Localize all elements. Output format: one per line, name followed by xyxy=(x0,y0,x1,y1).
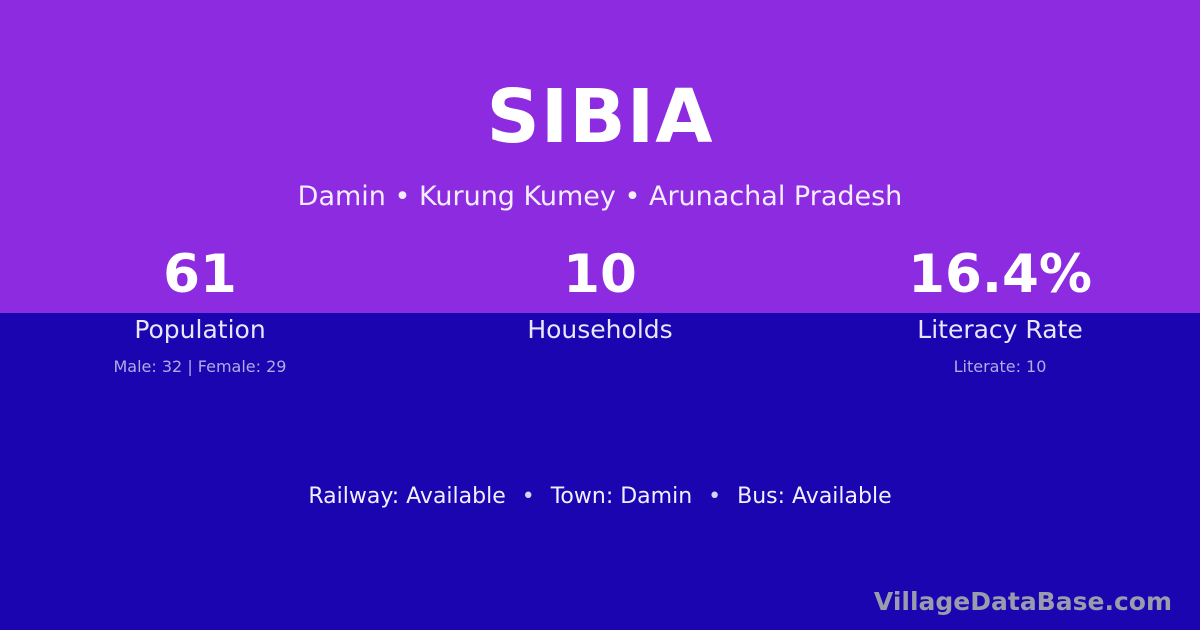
stat-label-population: Population xyxy=(0,316,400,344)
village-info-card: SIBIA Damin • Kurung Kumey • Arunachal P… xyxy=(0,0,1200,630)
page-title: SIBIA xyxy=(0,80,1200,154)
breadcrumb: Damin • Kurung Kumey • Arunachal Pradesh xyxy=(0,182,1200,212)
stat-literacy-rate: 16.4% Literacy Rate Literate: 10 xyxy=(800,248,1200,376)
stat-value-population: 61 xyxy=(0,248,400,300)
stat-value-households: 10 xyxy=(400,248,800,300)
stat-population: 61 Population Male: 32 | Female: 29 xyxy=(0,248,400,376)
amenities-line: Railway: Available • Town: Damin • Bus: … xyxy=(0,485,1200,509)
amenity-separator-1: • xyxy=(513,484,544,509)
stat-households: 10 Households xyxy=(400,248,800,376)
stat-sub-population: Male: 32 | Female: 29 xyxy=(0,358,400,376)
stat-sub-literacy-rate: Literate: 10 xyxy=(800,358,1200,376)
amenity-town: Town: Damin xyxy=(551,484,692,509)
stat-sub-households xyxy=(400,358,800,376)
site-watermark: VillageDataBase.com xyxy=(874,588,1172,616)
amenity-railway: Railway: Available xyxy=(308,484,505,509)
stat-value-literacy-rate: 16.4% xyxy=(800,248,1200,300)
stat-label-households: Households xyxy=(400,316,800,344)
amenity-separator-2: • xyxy=(699,484,730,509)
amenity-bus: Bus: Available xyxy=(737,484,891,509)
stat-label-literacy-rate: Literacy Rate xyxy=(800,316,1200,344)
stats-row: 61 Population Male: 32 | Female: 29 10 H… xyxy=(0,248,1200,376)
